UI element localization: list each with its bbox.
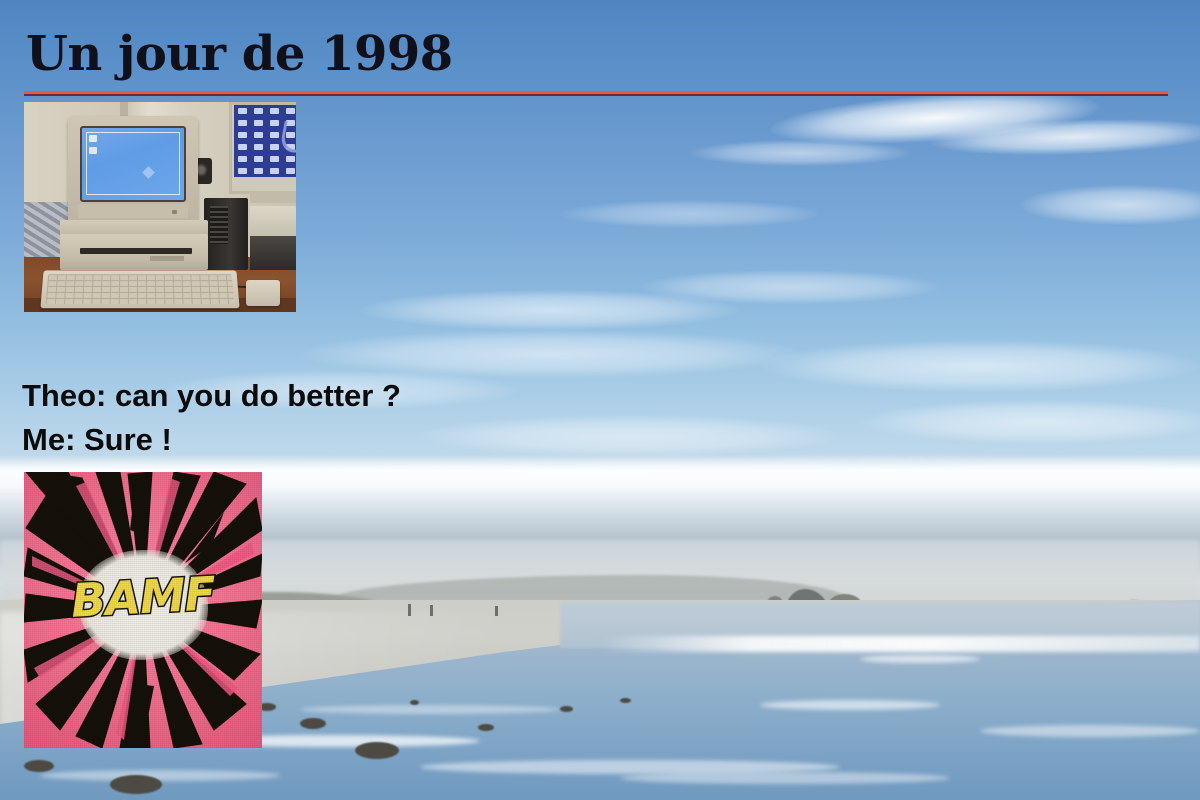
- surf-line: [600, 636, 1200, 652]
- seaweed-clump: [410, 700, 419, 705]
- second-monitor-base: [250, 191, 296, 203]
- beach-walker: [430, 605, 433, 616]
- computer-keyboard: [40, 270, 239, 308]
- seaweed-clump: [110, 775, 162, 794]
- print-grain-texture: [24, 472, 262, 748]
- page-title: Un jour de 1998: [26, 28, 453, 80]
- seaweed-clump: [355, 742, 399, 759]
- dark-peripheral-box: [250, 236, 296, 270]
- floppy-drive-slot: [80, 248, 192, 254]
- drive-badge: [150, 256, 184, 261]
- second-monitor: [229, 102, 296, 194]
- keyboard-keys: [46, 274, 234, 304]
- wave-foam: [40, 770, 280, 781]
- wave-foam: [300, 705, 560, 714]
- dialogue-line-1: Theo: can you do better ?: [22, 374, 401, 418]
- crt-desktop-icon: [89, 135, 97, 142]
- black-tower-case: [204, 198, 248, 270]
- seaweed-clump: [620, 698, 631, 703]
- wave-foam: [860, 655, 980, 663]
- wave-foam: [760, 700, 940, 710]
- dialogue-block: Theo: can you do better ? Me: Sure !: [22, 374, 401, 462]
- seaweed-clump: [300, 718, 326, 729]
- retro-computer-photo: [24, 102, 296, 312]
- seaweed-clump: [24, 760, 54, 772]
- wave-foam: [980, 725, 1200, 737]
- crt-power-led: [172, 210, 177, 214]
- bamf-comic-photo: BAMF: [24, 472, 262, 748]
- title-divider-rule: [24, 91, 1168, 96]
- crt-screen: [80, 126, 186, 202]
- slide-canvas: Un jour de 1998: [0, 0, 1200, 800]
- second-monitor-screen: [234, 105, 296, 177]
- seaweed-clump: [560, 706, 573, 712]
- beach-walker: [495, 606, 498, 616]
- dialogue-line-2: Me: Sure !: [22, 418, 401, 462]
- wave-foam: [620, 772, 950, 784]
- seaweed-clump: [478, 724, 494, 731]
- beach-walker: [408, 604, 411, 616]
- crt-monitor: [68, 116, 198, 224]
- tower-vent: [210, 206, 228, 244]
- computer-mouse: [246, 280, 280, 306]
- crt-desktop-icon: [89, 147, 97, 154]
- crt-window-frame: [86, 132, 180, 195]
- beige-peripheral-box: [250, 206, 296, 236]
